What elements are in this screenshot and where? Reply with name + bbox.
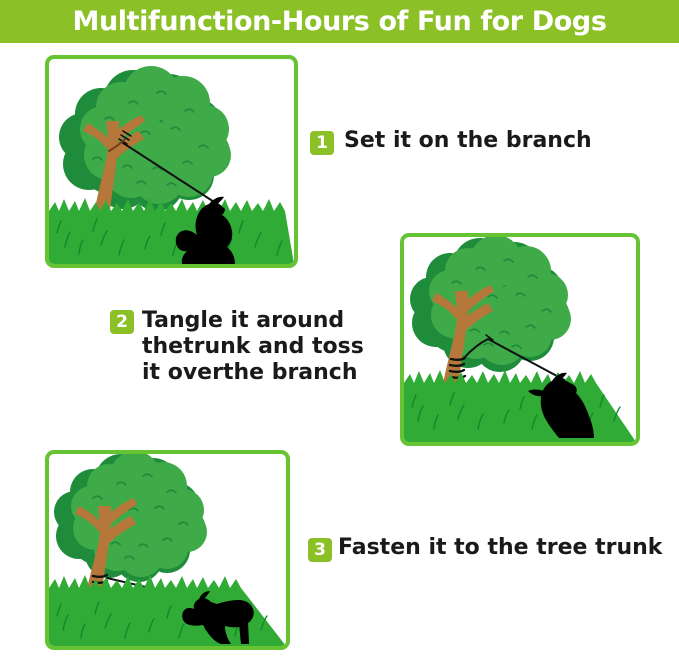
step-2: 2 Tangle it around thetrunk and toss it … — [110, 308, 364, 386]
step-3-badge: 3 — [308, 538, 332, 562]
step-3: 3 Fasten it to the tree trunk — [308, 535, 662, 562]
illustration-step-1 — [49, 59, 294, 264]
grass — [49, 198, 294, 264]
illustration-panel-step-3 — [45, 450, 290, 650]
step-1-text: Set it on the branch — [344, 128, 592, 154]
illustration-panel-step-2 — [400, 233, 640, 446]
illustration-panel-step-1 — [45, 55, 298, 268]
step-3-text: Fasten it to the tree trunk — [338, 535, 662, 561]
step-1-badge: 1 — [310, 131, 334, 155]
page-title: Multifunction-Hours of Fun for Dogs — [72, 8, 606, 35]
step-2-badge: 2 — [110, 310, 134, 334]
illustration-step-3 — [49, 454, 286, 646]
illustration-step-2 — [404, 237, 636, 442]
header-bar: Multifunction-Hours of Fun for Dogs — [0, 0, 679, 43]
step-2-text: Tangle it around thetrunk and toss it ov… — [142, 308, 364, 386]
grass — [404, 370, 636, 442]
step-1: 1 Set it on the branch — [310, 128, 592, 155]
